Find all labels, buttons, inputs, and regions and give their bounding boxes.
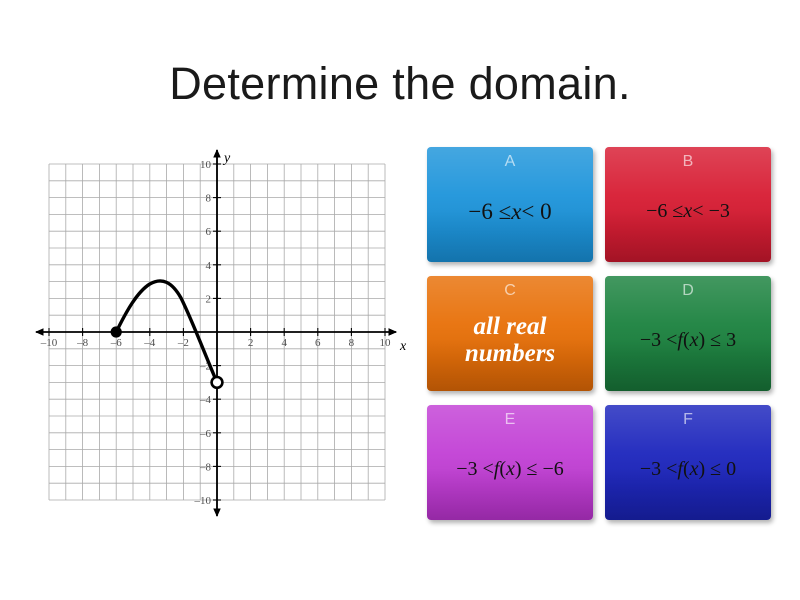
answer-text-b: −6 ≤ x < −3 xyxy=(605,171,771,262)
answer-letter-a: A xyxy=(505,153,516,171)
answer-letter-d: D xyxy=(682,282,694,300)
x-tick-label: –2 xyxy=(177,337,189,349)
y-tick-label: –6 xyxy=(199,428,212,440)
open-endpoint-marker xyxy=(212,377,223,388)
x-tick-label: –10 xyxy=(40,337,58,349)
answer-card-c[interactable]: C all real numbers xyxy=(427,276,593,391)
y-tick-label: 10 xyxy=(200,159,212,171)
x-tick-labels: –10 –8 –6 –4 –2 2 4 6 8 10 xyxy=(40,337,391,349)
x-tick-label: 4 xyxy=(281,337,287,349)
y-tick-label: –4 xyxy=(199,394,212,406)
coordinate-graph: –10 –8 –6 –4 –2 2 4 6 8 10 10 8 6 4 2 –2… xyxy=(22,140,412,525)
y-tick-label: 6 xyxy=(206,226,212,238)
answer-card-b[interactable]: B −6 ≤ x < −3 xyxy=(605,147,771,262)
answer-card-d[interactable]: D −3 < f(x) ≤ 3 xyxy=(605,276,771,391)
answer-text-f: −3 < f(x) ≤ 0 xyxy=(605,429,771,520)
x-tick-label: 8 xyxy=(349,337,355,349)
answer-options-grid: A −6 ≤ x < 0 B −6 ≤ x < −3 C all real nu… xyxy=(427,147,771,521)
answer-letter-c: C xyxy=(504,282,516,300)
x-tick-label: 2 xyxy=(248,337,254,349)
quiz-page: Determine the domain. xyxy=(0,0,800,600)
answer-letter-e: E xyxy=(505,411,516,429)
answer-card-a[interactable]: A −6 ≤ x < 0 xyxy=(427,147,593,262)
closed-endpoint-marker xyxy=(111,326,122,337)
answer-text-d: −3 < f(x) ≤ 3 xyxy=(605,300,771,391)
axes xyxy=(36,150,396,516)
y-tick-label: –10 xyxy=(194,495,212,507)
answer-text-a: −6 ≤ x < 0 xyxy=(427,171,593,262)
answer-text-e: −3 < f(x) ≤ −6 xyxy=(427,429,593,520)
y-tick-label: 2 xyxy=(206,293,212,305)
x-axis-label: x xyxy=(399,339,407,354)
answer-letter-b: B xyxy=(683,153,694,171)
x-tick-label: –8 xyxy=(76,337,89,349)
answer-card-e[interactable]: E −3 < f(x) ≤ −6 xyxy=(427,405,593,520)
answer-letter-f: F xyxy=(683,411,693,429)
x-tick-label: –4 xyxy=(143,337,156,349)
answer-text-c: all real numbers xyxy=(427,300,593,391)
y-tick-label: 8 xyxy=(206,193,212,205)
y-tick-label: –8 xyxy=(199,461,212,473)
page-title: Determine the domain. xyxy=(0,58,800,110)
x-tick-label: –6 xyxy=(110,337,123,349)
answer-card-f[interactable]: F −3 < f(x) ≤ 0 xyxy=(605,405,771,520)
graph-svg: –10 –8 –6 –4 –2 2 4 6 8 10 10 8 6 4 2 –2… xyxy=(22,140,412,525)
y-tick-label: 4 xyxy=(206,260,212,272)
x-tick-label: 10 xyxy=(380,337,392,349)
x-tick-label: 6 xyxy=(315,337,321,349)
y-axis-label: y xyxy=(222,151,231,166)
